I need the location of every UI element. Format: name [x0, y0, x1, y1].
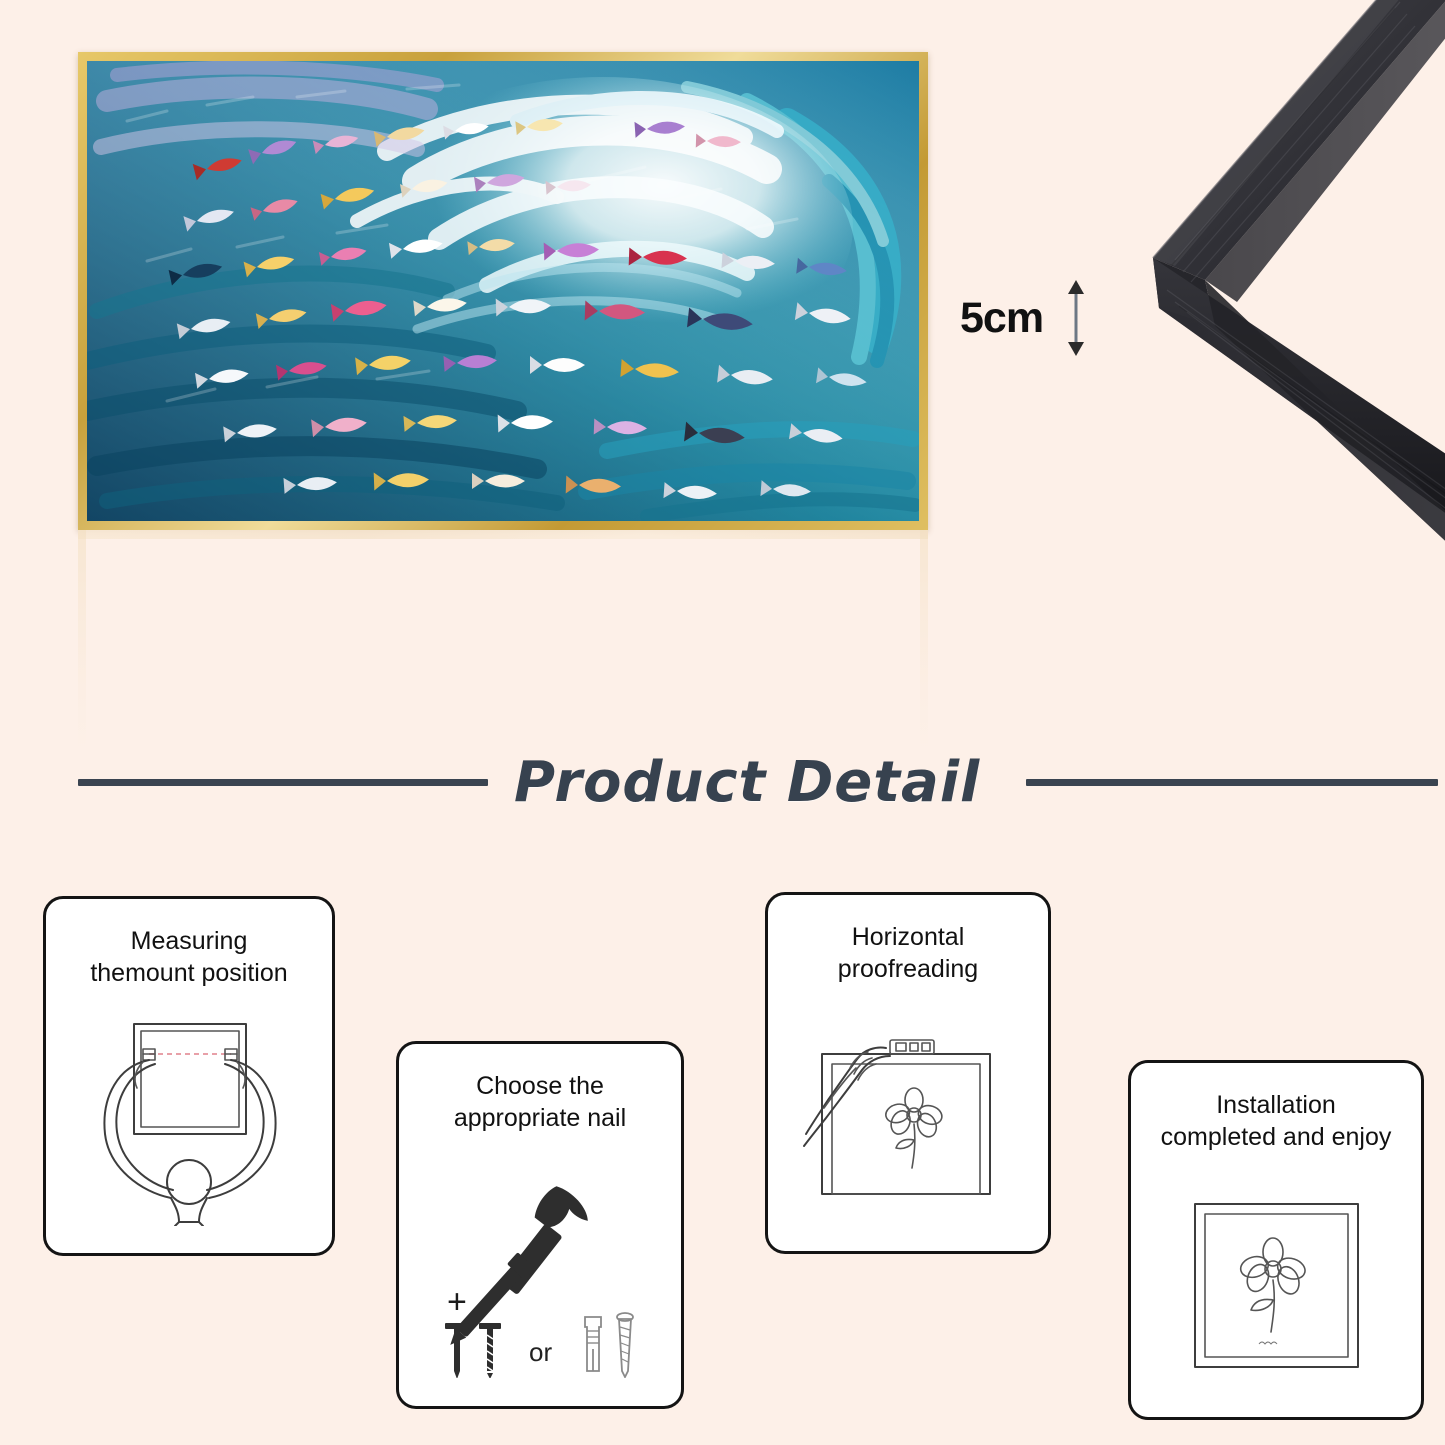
person-holding-frame-icon	[46, 989, 332, 1253]
framed-flower-picture-icon	[1131, 1153, 1421, 1417]
hand-with-spirit-level-icon	[768, 985, 1048, 1251]
card-title: Horizontal proofreading	[824, 921, 992, 985]
painting-canvas	[87, 61, 919, 521]
dimension-label: 5cm	[960, 297, 1043, 340]
instruction-card-nail[interactable]: Choose the appropriate nail +	[396, 1041, 684, 1409]
section-heading: Product Detail	[0, 735, 1445, 830]
svg-text:+: +	[447, 1283, 467, 1321]
card-title: Installation completed and enjoy	[1147, 1089, 1406, 1153]
instruction-card-measuring[interactable]: Measuring themount position	[43, 896, 335, 1256]
divider-right	[1026, 779, 1438, 786]
black-frame-corner	[1055, 0, 1445, 570]
product-detail-page: 5cm Product Detail Measuring themount po…	[0, 0, 1445, 1445]
hero-framed-painting	[78, 52, 928, 530]
hammer-and-nails-icon: +	[399, 1134, 681, 1406]
svg-text:or: or	[529, 1337, 552, 1367]
divider-left	[78, 779, 488, 786]
card-title: Measuring themount position	[76, 925, 301, 989]
frame-depth-dimension: 5cm	[960, 278, 1089, 358]
painting-reflection	[78, 530, 928, 890]
instruction-card-completed[interactable]: Installation completed and enjoy	[1128, 1060, 1424, 1420]
vertical-double-arrow-icon	[1063, 278, 1089, 358]
instruction-card-horizontal[interactable]: Horizontal proofreading	[765, 892, 1051, 1254]
page-title: Product Detail	[514, 750, 980, 815]
card-title: Choose the appropriate nail	[440, 1070, 640, 1134]
